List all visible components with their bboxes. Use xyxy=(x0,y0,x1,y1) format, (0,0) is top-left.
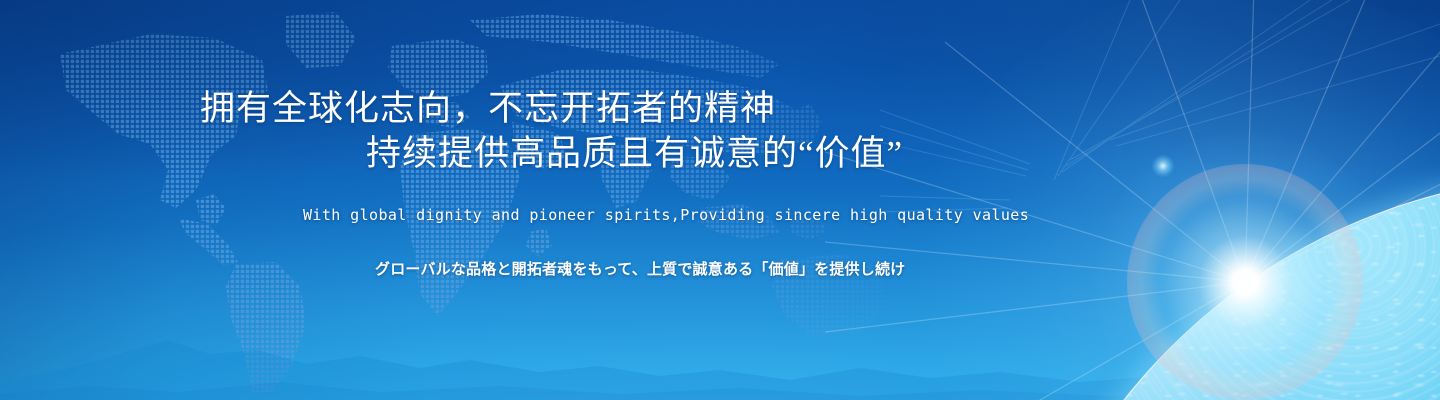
hero-banner: 拥有全球化志向，不忘开拓者的精神 持续提供高品质且有诚意的“价值” With g… xyxy=(0,0,1440,400)
subtitle-english: With global dignity and pioneer spirits,… xyxy=(303,206,1029,224)
headline: 拥有全球化志向，不忘开拓者的精神 持续提供高品质且有诚意的“价值” xyxy=(200,86,903,176)
headline-line-2: 持续提供高品质且有诚意的“价值” xyxy=(200,131,903,176)
subtitle-japanese: グローバルな品格と開拓者魂をもって、上質で誠意ある「価値」を提供し続け xyxy=(375,258,905,279)
banner-copy: 拥有全球化志向，不忘开拓者的精神 持续提供高品质且有诚意的“价值” With g… xyxy=(0,0,1060,400)
lens-flare-dot-icon xyxy=(1152,155,1174,177)
headline-line-1: 拥有全球化志向，不忘开拓者的精神 xyxy=(200,86,903,131)
